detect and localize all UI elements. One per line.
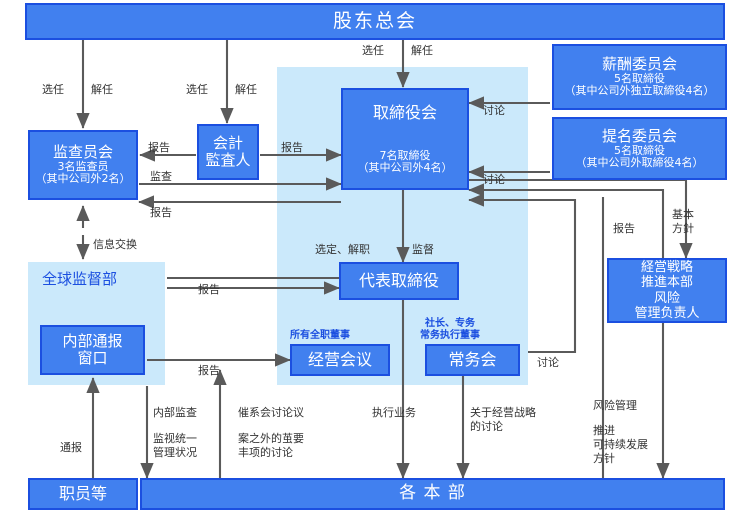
edge-label-report-gsd-mgmt: 报告 (198, 364, 220, 378)
governance-diagram: 股东总会 监查员会 3名监查员 （其中公司外2名） 会計 監査人 取締役会 7名… (0, 0, 750, 513)
edge-label-supervise: 监督 (412, 243, 434, 257)
shareholders-meeting-title: 股东总会 (333, 11, 417, 32)
auditors-board-line3: （其中公司外2名） (36, 173, 131, 185)
divisions-title: 各 本 部 (399, 484, 466, 503)
executive-board-title: 常务会 (448, 351, 496, 369)
management-meeting-note: 所有全职董事 (290, 330, 350, 343)
edge-label-meeting-agenda-3: 丰项的讨论 (238, 446, 293, 460)
employees-box[interactable]: 职员等 (28, 478, 138, 510)
auditors-board-title: 监查员会 (53, 144, 113, 161)
nomination-committee-line3: （其中公司外取締役4名） (576, 157, 704, 169)
shareholders-meeting-box[interactable]: 股东总会 (25, 3, 725, 40)
edge-label-risk-mgmt-2: 推进 (593, 424, 615, 438)
internal-report-window-line2: 窗口 (77, 350, 107, 367)
edge-label-report-to-bod: 报告 (281, 141, 303, 155)
divisions-box[interactable]: 各 本 部 (140, 478, 725, 510)
auditors-board-box[interactable]: 监查员会 3名监查员 （其中公司外2名） (28, 130, 138, 200)
edge-label-report-back: 报告 (150, 206, 172, 220)
edge-label-meeting-agenda-2: 案之外的茧要 (238, 432, 304, 446)
edge-label-dismiss-1: 解任 (91, 83, 113, 97)
internal-report-window-line1: 内部通报 (62, 333, 122, 350)
board-of-directors-title: 取締役会 (373, 104, 437, 122)
edge-label-select-dismiss: 选定、解职 (315, 243, 370, 257)
edge-label-discuss-nomination: 讨论 (483, 173, 505, 187)
edge-label-strategy-discuss-2: 的讨论 (470, 420, 503, 434)
strategy-risk-officer-line2: 推進本部 (641, 275, 693, 290)
edge-label-discuss-compensation: 讨论 (483, 104, 505, 118)
edge-label-report-right: 报告 (613, 222, 635, 236)
representative-director-title: 代表取締役 (359, 272, 439, 290)
global-supervision-title: 全球监督部 (42, 270, 117, 289)
edge-label-risk-mgmt-4: 方针 (593, 452, 615, 466)
edge-label-dismiss-2: 解任 (235, 83, 257, 97)
edge-label-basic-policy-2: 方針 (672, 222, 694, 236)
executive-board-box[interactable]: 常务会 (425, 344, 520, 376)
management-meeting-box[interactable]: 经营会议 (290, 344, 390, 376)
edge-label-info-exchange: 信息交换 (93, 238, 137, 252)
edge-label-elect-1: 选任 (42, 83, 64, 97)
edge-label-dismiss-3: 解任 (411, 44, 433, 58)
compensation-committee-box[interactable]: 薪酬委员会 5名取締役 （其中公司外独立取締役4名） (552, 44, 727, 110)
compensation-committee-line3: （其中公司外独立取締役4名） (565, 85, 715, 97)
edge-label-internal-audit-1: 内部监查 (153, 406, 197, 420)
employees-title: 职员等 (59, 485, 107, 503)
accounting-auditor-line2: 監査人 (205, 152, 250, 169)
executive-board-note-1: 社长、专务 (425, 318, 475, 331)
management-meeting-title: 经营会议 (308, 351, 372, 369)
board-of-directors-line2: 7名取締役 (380, 150, 431, 162)
edge-label-internal-audit-2: 监视统一 (153, 432, 197, 446)
representative-director-box[interactable]: 代表取締役 (339, 262, 459, 300)
edge-label-meeting-agenda-1: 催系会讨论议 (238, 406, 304, 420)
edge-label-discuss-executive: 讨论 (537, 356, 559, 370)
edge-label-audit: 监查 (150, 170, 172, 184)
edge-label-basic-policy-1: 基本 (672, 208, 694, 222)
edge-label-risk-mgmt-3: 可持续发展 (593, 438, 648, 452)
strategy-risk-officer-line1: 経営戦略 (641, 260, 693, 275)
edge-label-notify: 通报 (60, 441, 82, 455)
edge-label-strategy-discuss-1: 关于经营战略 (470, 406, 536, 420)
accounting-auditor-line1: 会計 (213, 135, 243, 152)
compensation-committee-title: 薪酬委员会 (602, 56, 677, 73)
edge-label-elect-2: 选任 (186, 83, 208, 97)
strategy-risk-officer-box[interactable]: 経営戦略 推進本部 风险 管理负责人 (607, 258, 727, 323)
strategy-risk-officer-line3: 风险 (654, 291, 680, 306)
edge-label-risk-mgmt-1: 风险管理 (593, 399, 637, 413)
edge-label-report-to-auditors: 报告 (148, 141, 170, 155)
accounting-auditor-box[interactable]: 会計 監査人 (197, 124, 259, 180)
edge-label-report-gsd-bod: 报告 (198, 283, 220, 297)
edge-label-internal-audit-3: 管理状况 (153, 446, 197, 460)
edge-label-elect-3: 选任 (362, 44, 384, 58)
executive-board-note-2: 常务执行董事 (420, 330, 480, 343)
board-of-directors-box[interactable]: 取締役会 7名取締役 （其中公司外4名） (341, 88, 469, 190)
internal-report-window-box[interactable]: 内部通报 窗口 (40, 325, 145, 375)
nomination-committee-title: 提名委员会 (602, 128, 677, 145)
edge-label-execute-business: 执行业务 (372, 406, 416, 420)
strategy-risk-officer-line4: 管理负责人 (634, 306, 699, 321)
board-of-directors-line3: （其中公司外4名） (358, 162, 453, 174)
nomination-committee-box[interactable]: 提名委员会 5名取締役 （其中公司外取締役4名） (552, 117, 727, 180)
